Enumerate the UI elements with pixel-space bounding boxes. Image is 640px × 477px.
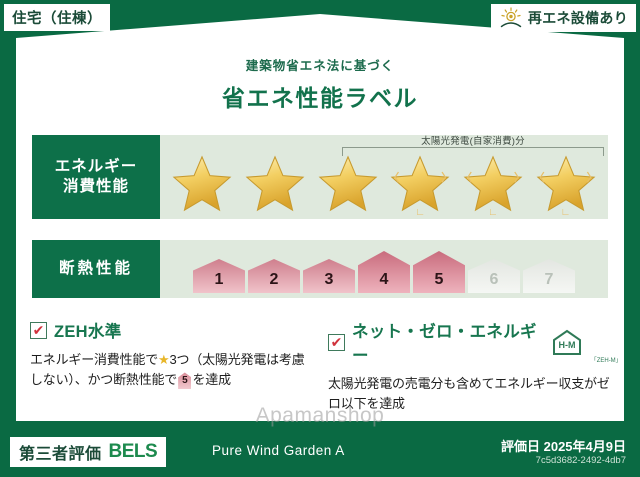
achievement-zeh-header: ✔ ZEH水準 [30, 318, 316, 342]
title-subtitle: 建築物省エネ法に基づく [0, 55, 640, 74]
star-icon-solar: 〈 〉 ∟ [535, 153, 597, 215]
title-main: 省エネ性能ラベル [0, 79, 640, 113]
insulation-grade-5: 5 [413, 251, 465, 293]
achievement-net-zero: ✔ ネット・ゼロ・エネルギー H-M 「ZEH-M」 太陽光発電の売電分も含めて… [328, 318, 620, 414]
achievement-net-zero-header: ✔ ネット・ゼロ・エネルギー H-M 「ZEH-M」 [328, 318, 620, 366]
star-icon [244, 153, 306, 215]
insulation-grade-7: 7 [523, 259, 575, 293]
insulation-grades-panel: 1 2 3 4 5 6 7 [160, 240, 608, 298]
star-icon [171, 153, 233, 215]
energy-label-root: 住宅（住棟） 再エネ設備あり 建築物省エネ法に基づく 省エネ性能ラベル エネルギ… [0, 0, 640, 477]
zeh-m-caption: 「ZEH-M」 [591, 355, 620, 366]
star-icon-solar: 〈 〉 ∟ [462, 153, 524, 215]
insulation-grade-3: 3 [303, 259, 355, 293]
dwelling-type-label: 住宅（住棟） [12, 7, 102, 28]
achievement-zeh-body: エネルギー消費性能で★3つ（太陽光発電は考慮しない）、かつ断熱性能で5を達成 [30, 350, 316, 390]
label-title-block: 建築物省エネ法に基づく 省エネ性能ラベル [0, 55, 640, 113]
energy-label-line2: 消費性能 [63, 177, 129, 197]
check-icon: ✔ [30, 322, 47, 339]
evaluation-date: 評価日 2025年4月9日 [501, 436, 626, 455]
bels-en-label: BELS [109, 441, 158, 463]
evaluation-id: 7c5d3682-2492-4db7 [536, 455, 626, 466]
energy-performance-row: エネルギー 消費性能 太陽光発電(自家消費)分 [32, 135, 608, 219]
insulation-performance-row: 断熱性能 1 2 3 4 5 6 7 [32, 240, 608, 298]
insulation-grade-6: 6 [468, 259, 520, 293]
insulation-grade-group: 1 2 3 4 5 6 7 [160, 240, 608, 298]
bels-badge: 第三者評価 BELS [10, 437, 166, 467]
star-icon [317, 153, 379, 215]
zeh-m-house-icon: H-M [550, 329, 584, 355]
energy-performance-label: エネルギー 消費性能 [32, 135, 160, 219]
insulation-grade-2: 2 [248, 259, 300, 293]
insulation-grade-4: 4 [358, 251, 410, 293]
label-footer: 第三者評価 BELS Pure Wind Garden A 評価日 2025年4… [0, 429, 640, 477]
check-icon: ✔ [328, 334, 345, 351]
dwelling-type-badge: 住宅（住棟） [4, 4, 110, 31]
solar-self-consumption-note: 太陽光発電(自家消費)分 [342, 133, 604, 147]
inline-grade-badge: 5 [178, 372, 191, 389]
solar-bracket-line [342, 147, 604, 156]
zeh-body-part-a: エネルギー消費性能で [30, 352, 158, 367]
svg-text:H-M: H-M [558, 340, 575, 350]
bels-jp-label: 第三者評価 [19, 440, 102, 464]
property-name: Pure Wind Garden A [212, 443, 345, 458]
achievement-net-zero-title: ネット・ゼロ・エネルギー [352, 318, 543, 366]
sun-renewable-icon [499, 7, 523, 29]
inline-star-icon: ★ [158, 352, 169, 367]
insulation-performance-label: 断熱性能 [32, 240, 160, 298]
energy-label-line1: エネルギー [55, 157, 138, 177]
energy-performance-stars-panel: 太陽光発電(自家消費)分 〈 〉 [160, 135, 608, 219]
zeh-body-part-c: を達成 [192, 372, 230, 387]
insulation-label-text: 断熱性能 [59, 259, 133, 279]
star-icon-solar: 〈 〉 ∟ [389, 153, 451, 215]
evaluation-date-label: 評価日 [501, 439, 540, 454]
insulation-grade-1: 1 [193, 259, 245, 293]
achievement-zeh: ✔ ZEH水準 エネルギー消費性能で★3つ（太陽光発電は考慮しない）、かつ断熱性… [30, 318, 316, 390]
evaluation-date-value: 2025年4月9日 [544, 439, 626, 454]
renewable-equipment-label: 再エネ設備あり [528, 8, 628, 28]
achievement-zeh-title: ZEH水準 [54, 318, 122, 342]
achievement-net-zero-body: 太陽光発電の売電分も含めてエネルギー収支がゼロ以下を達成 [328, 374, 620, 414]
renewable-equipment-badge: 再エネ設備あり [491, 4, 636, 32]
